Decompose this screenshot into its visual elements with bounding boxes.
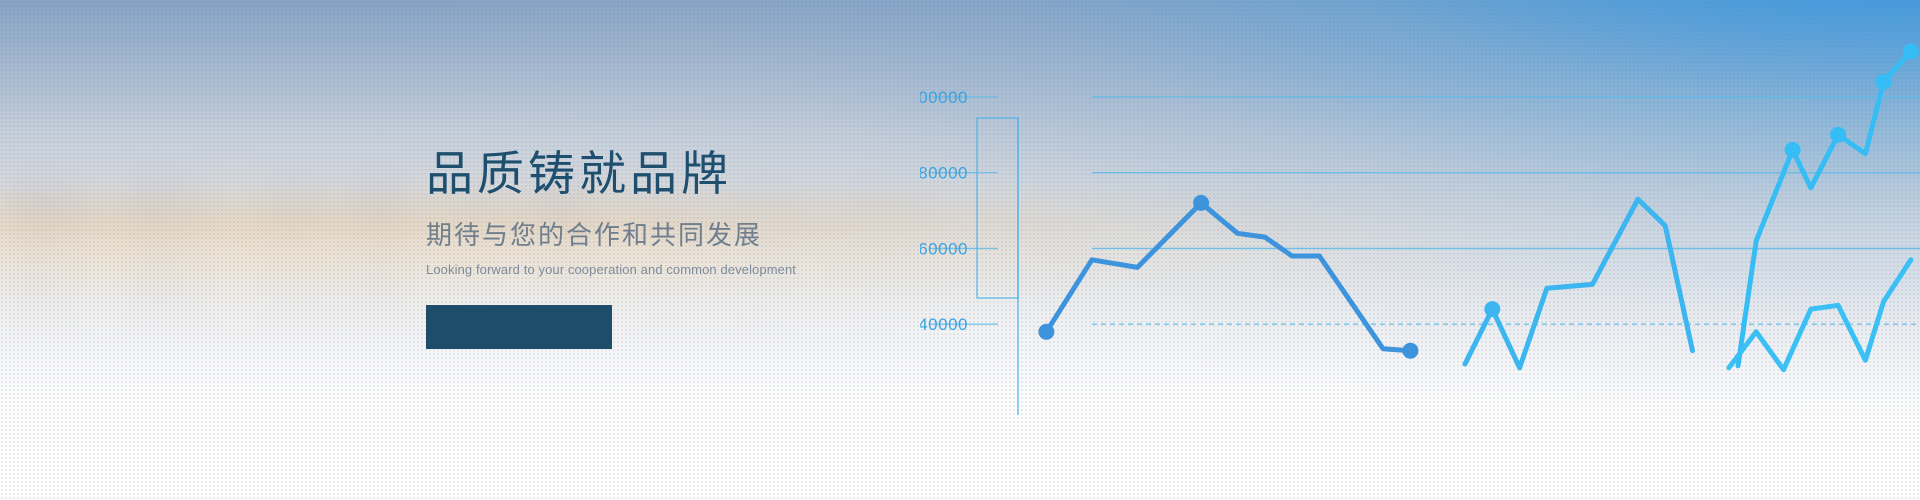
chart-gridlines (930, 97, 1920, 324)
y-axis-tick-label: 60000 (920, 239, 968, 258)
subtitle-english: Looking forward to your cooperation and … (426, 262, 796, 278)
data-point-dot (1876, 74, 1892, 90)
cta-button[interactable] (426, 305, 612, 349)
axis-frame-rect (977, 118, 1018, 298)
data-point-dot (1402, 343, 1418, 359)
data-point-dot (1484, 301, 1500, 317)
data-point-dot (1193, 195, 1209, 211)
subtitle-chinese: 期待与您的合作和共同发展 (426, 218, 762, 252)
chart-markers (1038, 43, 1919, 358)
series-line (1465, 199, 1693, 368)
data-point-dot (1903, 43, 1919, 59)
chart-axis (977, 118, 1018, 415)
data-point-dot (1785, 142, 1801, 158)
line-chart-svg: 100000800006000040000 (920, 0, 1920, 500)
y-axis-tick-label: 100000 (920, 88, 968, 107)
series-line (1046, 203, 1410, 351)
y-axis-tick-label: 80000 (920, 164, 968, 183)
hero-banner: 品质铸就品牌 期待与您的合作和共同发展 Looking forward to y… (0, 0, 1920, 500)
data-point-dot (1038, 324, 1054, 340)
chart-tick-labels: 100000800006000040000 (920, 88, 968, 334)
y-axis-tick-label: 40000 (920, 315, 968, 334)
chart-series (1046, 51, 1911, 369)
page-title: 品质铸就品牌 (426, 146, 732, 202)
line-chart: 100000800006000040000 (920, 0, 1920, 500)
series-line (1738, 51, 1911, 366)
data-point-dot (1830, 127, 1846, 143)
series-line (1729, 260, 1911, 370)
